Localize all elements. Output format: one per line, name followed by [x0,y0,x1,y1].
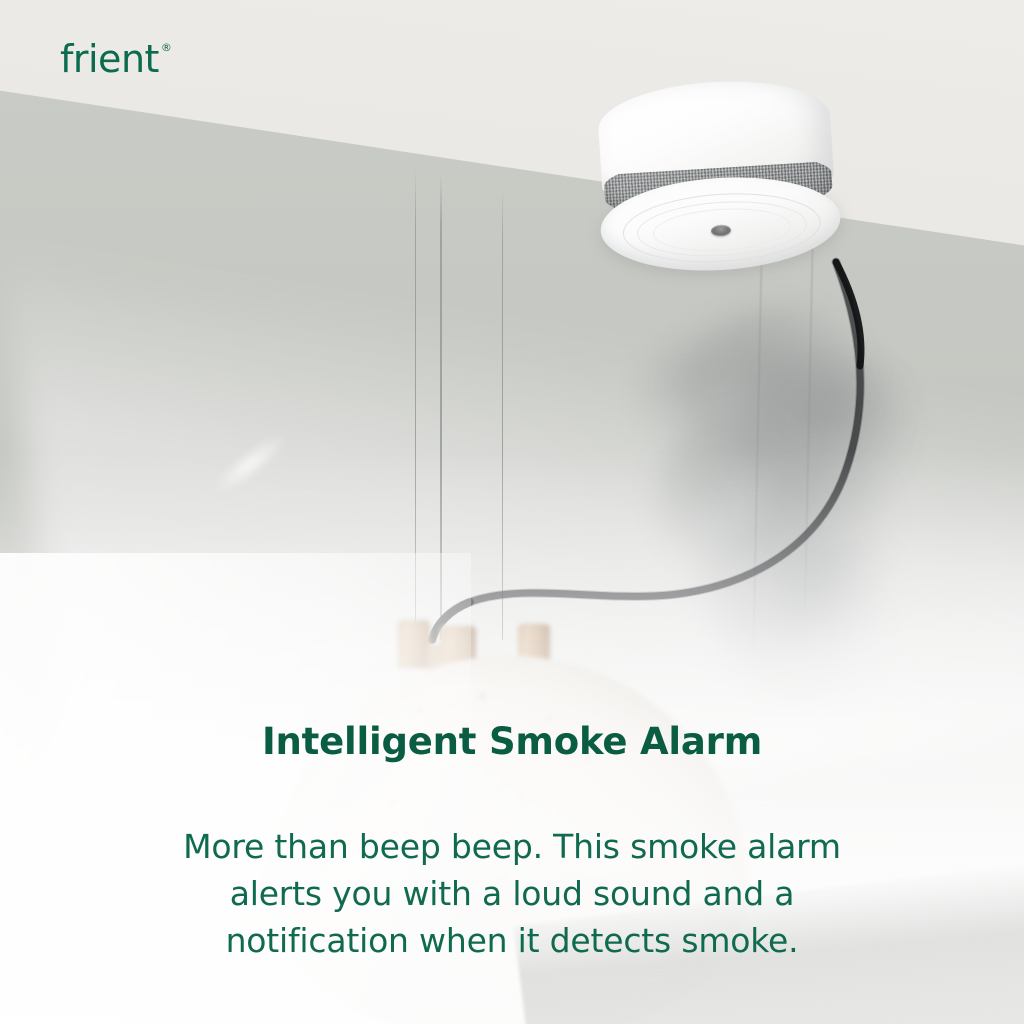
pendant-suspension-wire [440,174,441,640]
body-copy-line-2: alerts you with a loud sound and a [112,871,912,918]
brand-logo[interactable]: frient ® [60,40,172,78]
smoke-puff [635,338,755,448]
body-copy-line-1: More than beep beep. This smoke alarm [112,824,912,871]
pendant-suspension-wire [415,169,416,640]
registered-trademark-icon: ® [161,42,172,53]
body-copy-line-3: notification when it detects smoke. [112,918,912,965]
promo-graphic: frient ® Intelligent Smoke Alarm More th… [0,0,1024,1024]
pendant-suspension-wire [502,189,503,640]
page-title: Intelligent Smoke Alarm [0,722,1024,763]
brand-logo-wordmark: frient [60,40,159,78]
body-copy: More than beep beep. This smoke alarm al… [112,824,912,965]
smoke-alarm-device [588,75,848,290]
smoke-puff [799,369,909,464]
